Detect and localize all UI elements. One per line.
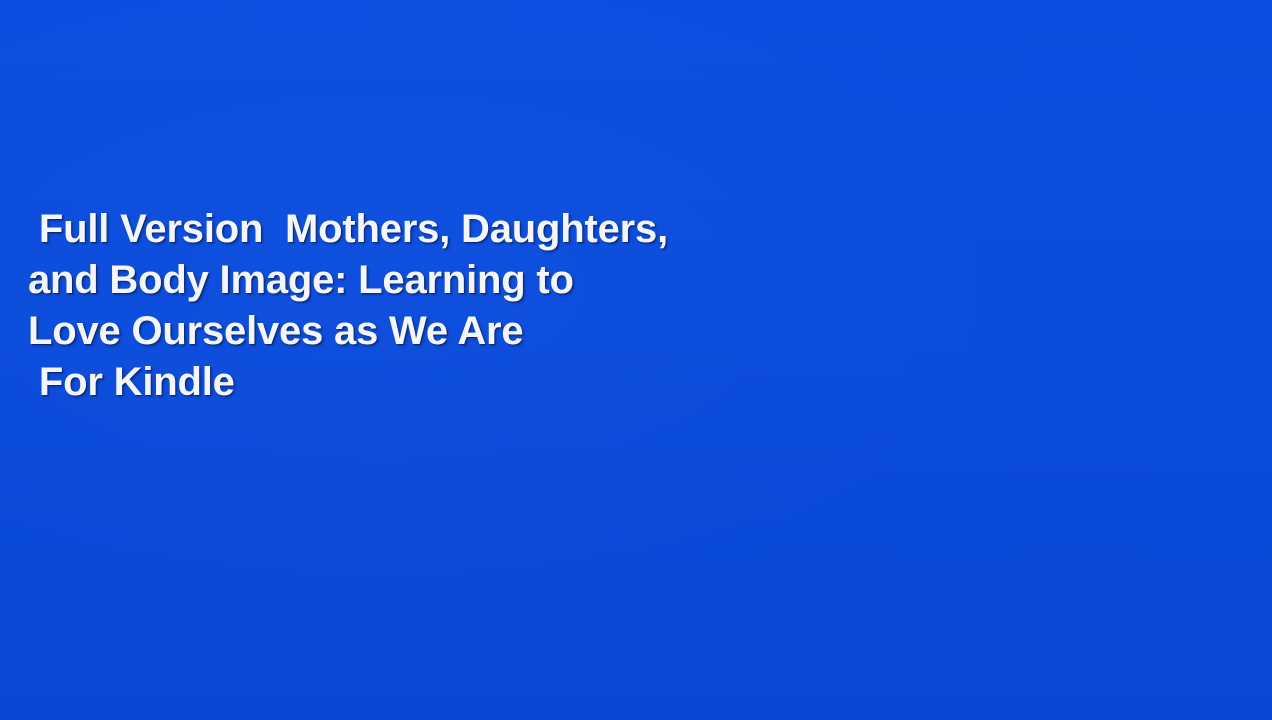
title-line-3: Love Ourselves as We Are	[28, 306, 1028, 357]
title-line-1: Full Version Mothers, Daughters,	[28, 204, 1028, 255]
promo-title-block: Full Version Mothers, Daughters, and Bod…	[28, 204, 1028, 408]
title-line-2: and Body Image: Learning to	[28, 255, 1028, 306]
promo-banner: Full Version Mothers, Daughters, and Bod…	[0, 0, 1272, 720]
title-line-4: For Kindle	[28, 357, 1028, 408]
